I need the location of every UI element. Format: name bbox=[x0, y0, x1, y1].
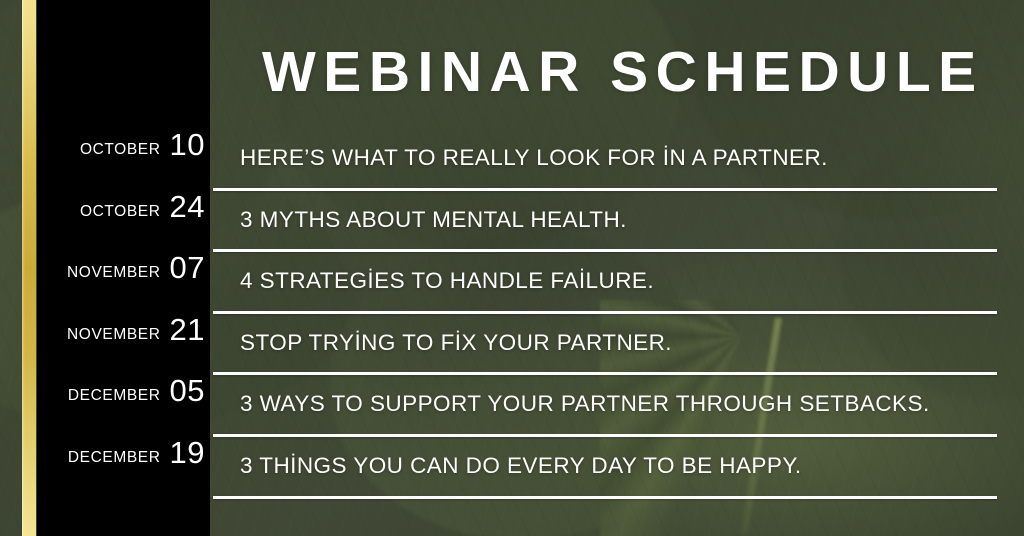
date-cell: NOVEMBER 21 bbox=[37, 312, 205, 374]
row-divider bbox=[213, 496, 997, 499]
row-divider bbox=[213, 434, 997, 437]
date-month: DECEMBER bbox=[68, 449, 161, 467]
date-cell: DECEMBER 05 bbox=[37, 373, 205, 435]
date-cell: OCTOBER 10 bbox=[37, 127, 205, 189]
date-cell: DECEMBER 19 bbox=[37, 435, 205, 497]
date-month: OCTOBER bbox=[80, 141, 161, 159]
schedule-row[interactable]: DECEMBER 19 3 THİNGS YOU CAN DO EVERY DA… bbox=[0, 435, 1024, 497]
date-cell: NOVEMBER 07 bbox=[37, 250, 205, 312]
schedule-row[interactable]: NOVEMBER 21 STOP TRYİNG TO FİX YOUR PART… bbox=[0, 312, 1024, 374]
schedule-row[interactable]: OCTOBER 10 HERE’S WHAT TO REALLY LOOK FO… bbox=[0, 127, 1024, 189]
date-day: 07 bbox=[170, 250, 205, 286]
row-divider bbox=[213, 188, 997, 191]
date-day: 05 bbox=[170, 373, 205, 409]
date-day: 24 bbox=[170, 189, 205, 225]
row-divider bbox=[213, 372, 997, 375]
schedule-row[interactable]: OCTOBER 24 3 MYTHS ABOUT MENTAL HEALTH. bbox=[0, 189, 1024, 251]
date-cell: OCTOBER 24 bbox=[37, 189, 205, 251]
date-month: NOVEMBER bbox=[67, 264, 161, 282]
row-divider bbox=[213, 249, 997, 252]
schedule-row[interactable]: NOVEMBER 07 4 STRATEGİES TO HANDLE FAİLU… bbox=[0, 250, 1024, 312]
date-month: NOVEMBER bbox=[67, 326, 161, 344]
date-day: 19 bbox=[170, 435, 205, 471]
schedule-row[interactable]: DECEMBER 05 3 WAYS TO SUPPORT YOUR PARTN… bbox=[0, 373, 1024, 435]
date-day: 21 bbox=[170, 312, 205, 348]
date-day: 10 bbox=[170, 127, 205, 163]
date-month: DECEMBER bbox=[68, 387, 161, 405]
topic-text: 3 WAYS TO SUPPORT YOUR PARTNER THROUGH S… bbox=[240, 373, 1004, 435]
topic-text: 4 STRATEGİES TO HANDLE FAİLURE. bbox=[240, 250, 1004, 312]
topic-text: HERE’S WHAT TO REALLY LOOK FOR İN A PART… bbox=[240, 127, 1004, 189]
webinar-schedule-poster: WEBINAR SCHEDULE OCTOBER 10 HERE’S WHAT … bbox=[0, 0, 1024, 536]
row-divider bbox=[213, 311, 997, 314]
topic-text: STOP TRYİNG TO FİX YOUR PARTNER. bbox=[240, 312, 1004, 374]
topic-text: 3 THİNGS YOU CAN DO EVERY DAY TO BE HAPP… bbox=[240, 435, 1004, 497]
schedule-list: OCTOBER 10 HERE’S WHAT TO REALLY LOOK FO… bbox=[0, 0, 1024, 536]
date-month: OCTOBER bbox=[80, 203, 161, 221]
topic-text: 3 MYTHS ABOUT MENTAL HEALTH. bbox=[240, 189, 1004, 251]
